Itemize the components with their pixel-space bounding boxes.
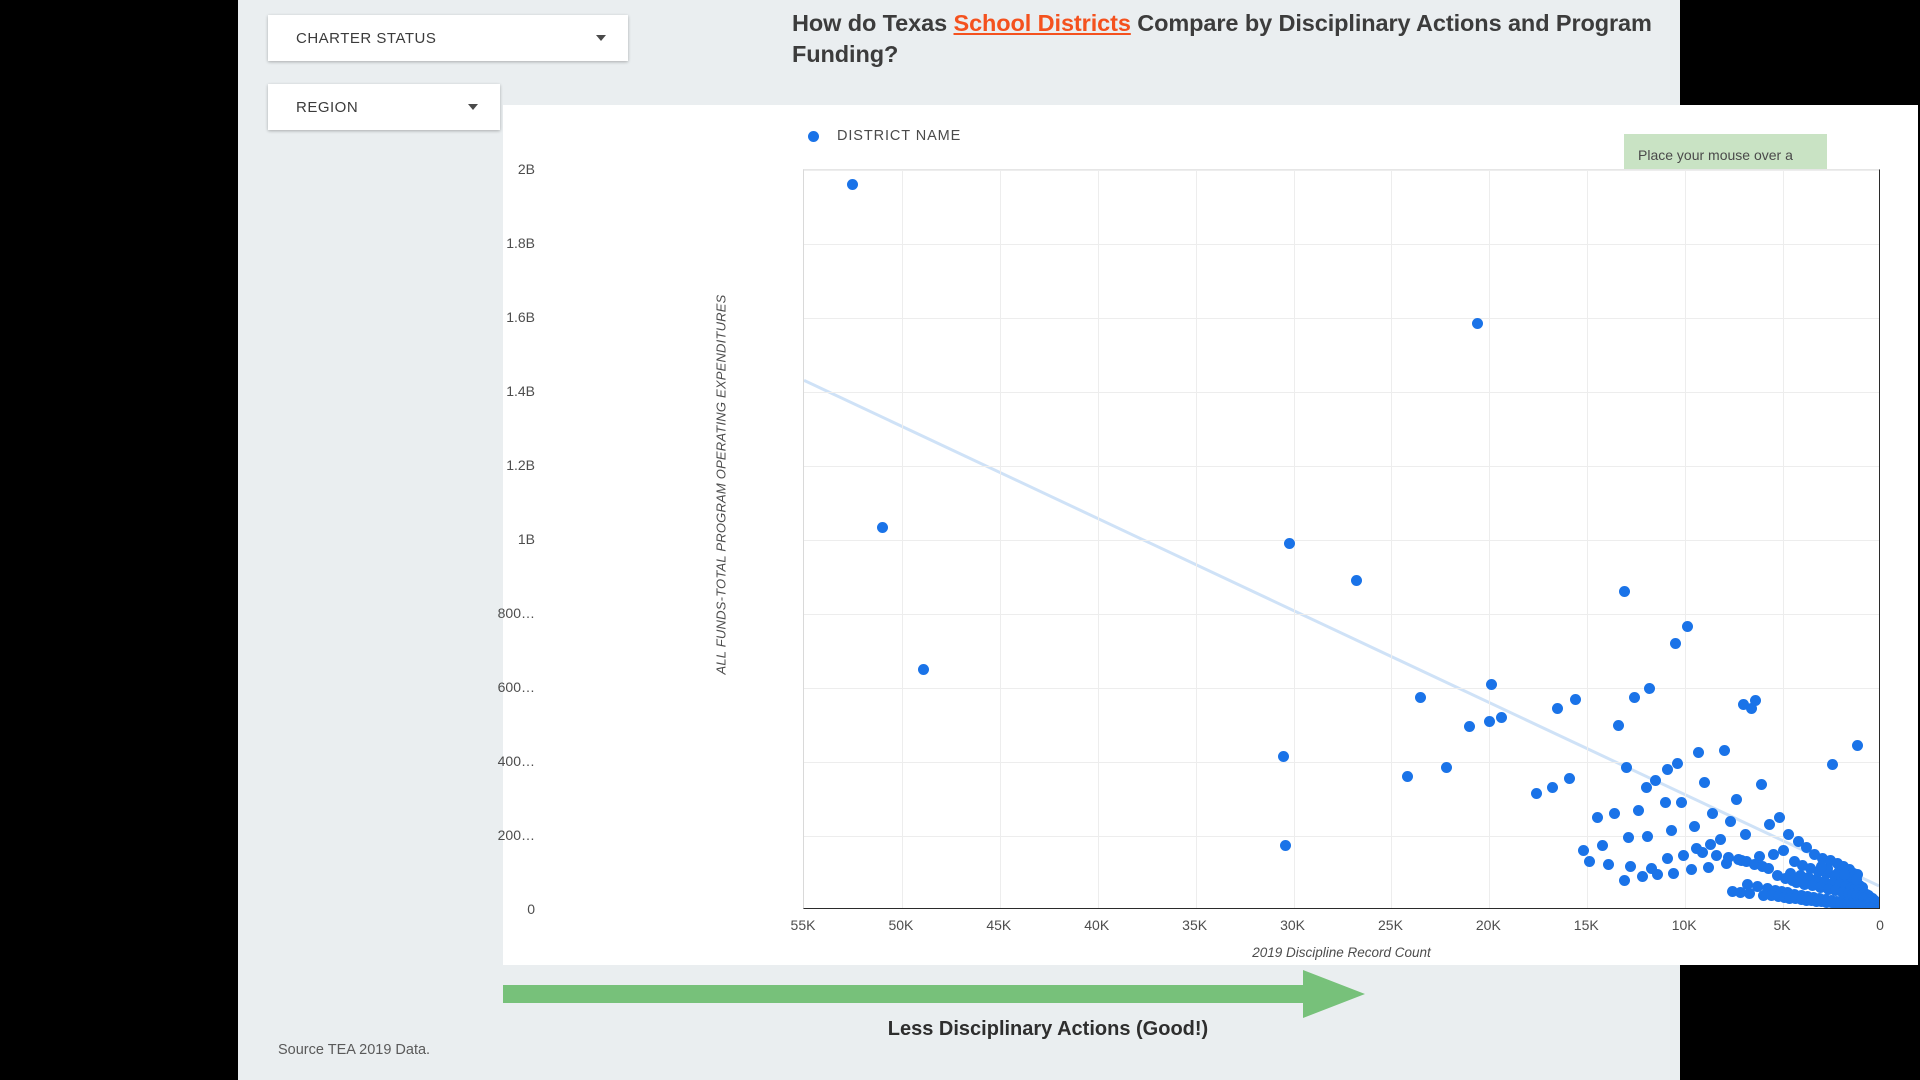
scatter-point[interactable] xyxy=(1496,712,1507,723)
scatter-point[interactable] xyxy=(1642,831,1653,842)
right-arrow-icon xyxy=(503,970,1365,1018)
chart-legend[interactable]: DISTRICT NAME xyxy=(808,128,961,144)
y-axis-tick-label: 1.2B xyxy=(506,457,535,473)
filter-charter-status-label: CHARTER STATUS xyxy=(268,30,596,47)
gridline-horizontal xyxy=(804,762,1879,763)
x-axis-tick-label: 20K xyxy=(1476,917,1501,933)
scatter-point[interactable] xyxy=(1637,871,1648,882)
scatter-point[interactable] xyxy=(1816,861,1827,872)
legend-label-district-name: DISTRICT NAME xyxy=(837,128,961,144)
scatter-point[interactable] xyxy=(1633,805,1644,816)
y-axis-tick-label: 0 xyxy=(527,901,535,917)
x-axis-tick-label: 0 xyxy=(1876,917,1884,933)
chart-card: DISTRICT NAME Place your mouse over a po… xyxy=(503,105,1918,965)
y-axis-tick-label: 1.4B xyxy=(506,383,535,399)
scatter-point[interactable] xyxy=(1662,853,1673,864)
scatter-point[interactable] xyxy=(1827,759,1838,770)
gridline-vertical xyxy=(1000,170,1001,908)
chevron-down-icon xyxy=(468,104,478,110)
x-axis-title: 2019 Discipline Record Count xyxy=(803,945,1880,960)
scatter-point[interactable] xyxy=(1731,794,1742,805)
y-axis-tick-label: 1.8B xyxy=(506,235,535,251)
scatter-point[interactable] xyxy=(1619,875,1630,886)
x-axis-tick-label: 30K xyxy=(1280,917,1305,933)
scatter-point[interactable] xyxy=(877,522,888,533)
gridline-horizontal xyxy=(804,170,1879,171)
y-axis-tick-label: 800… xyxy=(498,605,535,621)
scatter-point[interactable] xyxy=(1678,850,1689,861)
filter-region[interactable]: REGION xyxy=(268,84,500,130)
gridline-vertical xyxy=(902,170,903,908)
y-axis-tick-label: 400… xyxy=(498,753,535,769)
y-axis-tick-label: 200… xyxy=(498,827,535,843)
gridline-vertical xyxy=(1587,170,1588,908)
x-axis-tick-label: 55K xyxy=(791,917,816,933)
scatter-point[interactable] xyxy=(1570,694,1581,705)
legend-swatch-district-name xyxy=(808,131,819,142)
scatter-point[interactable] xyxy=(1415,692,1426,703)
title-part-1: How do Texas xyxy=(792,10,954,36)
scatter-point[interactable] xyxy=(1644,683,1655,694)
scatter-point[interactable] xyxy=(1756,779,1767,790)
y-axis-tick-label: 600… xyxy=(498,679,535,695)
scatter-point[interactable] xyxy=(1625,861,1636,872)
scatter-plot-area[interactable] xyxy=(803,169,1880,909)
gridline-vertical xyxy=(1196,170,1197,908)
scatter-point[interactable] xyxy=(1668,868,1679,879)
scatter-point[interactable] xyxy=(1351,575,1362,586)
scatter-point[interactable] xyxy=(1666,825,1677,836)
scatter-point[interactable] xyxy=(1280,840,1291,851)
x-axis-tick-label: 45K xyxy=(986,917,1011,933)
chevron-down-icon xyxy=(596,35,606,41)
screenshot-stage: CHARTER STATUS REGION How do Texas Schoo… xyxy=(0,0,1920,1080)
gridline-horizontal xyxy=(804,318,1879,319)
filter-region-label: REGION xyxy=(268,99,468,116)
scatter-point[interactable] xyxy=(1778,845,1789,856)
gridline-vertical xyxy=(1098,170,1099,908)
gridline-horizontal xyxy=(804,392,1879,393)
gridline-vertical xyxy=(1391,170,1392,908)
scatter-point[interactable] xyxy=(1441,762,1452,773)
title-highlight-link[interactable]: School Districts xyxy=(954,10,1131,36)
scatter-point[interactable] xyxy=(1641,782,1652,793)
y-axis-tick-label: 1.6B xyxy=(506,309,535,325)
scatter-point[interactable] xyxy=(1484,716,1495,727)
gridline-horizontal xyxy=(804,466,1879,467)
scatter-point[interactable] xyxy=(1705,839,1716,850)
scatter-point[interactable] xyxy=(1723,852,1734,863)
x-axis-tick-label: 10K xyxy=(1672,917,1697,933)
gridline-horizontal xyxy=(804,614,1879,615)
source-note: Source TEA 2019 Data. xyxy=(278,1042,430,1058)
scatter-point[interactable] xyxy=(1686,864,1697,875)
scatter-point[interactable] xyxy=(1629,692,1640,703)
x-axis-tick-label: 40K xyxy=(1084,917,1109,933)
scatter-point[interactable] xyxy=(1402,771,1413,782)
scatter-point[interactable] xyxy=(1613,720,1624,731)
scatter-point[interactable] xyxy=(1621,762,1632,773)
scatter-point[interactable] xyxy=(1852,740,1863,751)
x-axis-tick-label: 15K xyxy=(1574,917,1599,933)
gridline-horizontal xyxy=(804,540,1879,541)
y-axis-tick-label: 2B xyxy=(518,161,535,177)
scatter-point[interactable] xyxy=(1547,782,1558,793)
trend-line xyxy=(804,170,1879,908)
gridline-horizontal xyxy=(804,244,1879,245)
scatter-point[interactable] xyxy=(1670,638,1681,649)
gridline-vertical xyxy=(1685,170,1686,908)
gridline-vertical xyxy=(1783,170,1784,908)
scatter-point[interactable] xyxy=(1725,816,1736,827)
scatter-point[interactable] xyxy=(1592,812,1603,823)
gridline-vertical xyxy=(1489,170,1490,908)
scatter-point[interactable] xyxy=(1875,904,1880,909)
x-axis-tick-label: 35K xyxy=(1182,917,1207,933)
scatter-point[interactable] xyxy=(1662,764,1673,775)
gridline-horizontal xyxy=(804,688,1879,689)
dashboard-canvas: CHARTER STATUS REGION How do Texas Schoo… xyxy=(238,0,1680,1080)
x-axis-tick-label: 25K xyxy=(1378,917,1403,933)
scatter-point[interactable] xyxy=(1486,679,1497,690)
y-axis-title: ALL FUNDS-TOTAL PROGRAM OPERATING EXPEND… xyxy=(714,225,729,745)
scatter-point[interactable] xyxy=(1711,850,1722,861)
scatter-point[interactable] xyxy=(1676,797,1687,808)
x-axis-tick-label: 50K xyxy=(888,917,913,933)
scatter-point[interactable] xyxy=(918,664,929,675)
less-disciplinary-actions-annotation: Less Disciplinary Actions (Good!) xyxy=(798,1018,1298,1041)
scatter-point[interactable] xyxy=(1768,849,1779,860)
page-title: How do Texas School Districts Compare by… xyxy=(792,8,1672,71)
scatter-point[interactable] xyxy=(1740,829,1751,840)
filter-charter-status[interactable]: CHARTER STATUS xyxy=(268,15,628,61)
scatter-point[interactable] xyxy=(1763,863,1774,874)
scatter-point[interactable] xyxy=(1774,812,1785,823)
scatter-point[interactable] xyxy=(1531,788,1542,799)
y-axis-tick-label: 1B xyxy=(518,531,535,547)
x-axis-tick-label: 5K xyxy=(1774,917,1791,933)
